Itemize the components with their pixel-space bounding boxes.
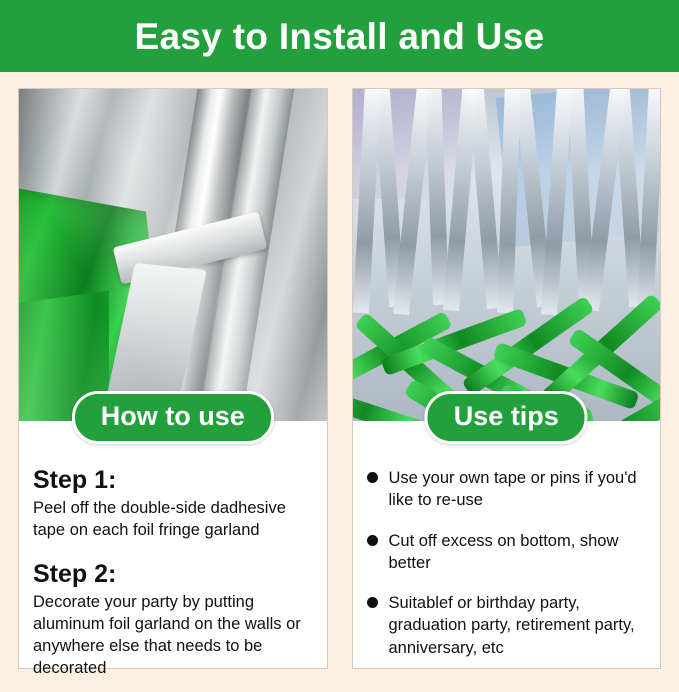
- tips-list: Use your own tape or pins if you'd like …: [367, 467, 649, 659]
- step-2-text: Decorate your party by putting aluminum …: [33, 591, 315, 680]
- header-banner: Easy to Install and Use: [0, 0, 679, 72]
- step-1-heading: Step 1:: [33, 467, 315, 495]
- bullet-icon: [367, 597, 378, 608]
- tip-text: Cut off excess on bottom, show better: [389, 532, 619, 572]
- step-1-text: Peel off the double-side dadhesive tape …: [33, 497, 315, 542]
- photo-how-to-use: [19, 89, 327, 421]
- panel-use-tips: Use tips Use your own tape or pins if yo…: [352, 88, 662, 669]
- tip-text: Use your own tape or pins if you'd like …: [389, 469, 637, 509]
- list-item: Use your own tape or pins if you'd like …: [367, 467, 649, 512]
- list-item: Suitablef or birthday party, graduation …: [367, 592, 649, 659]
- list-item: Cut off excess on bottom, show better: [367, 530, 649, 575]
- how-to-use-text: Step 1: Peel off the double-side dadhesi…: [19, 421, 327, 692]
- tip-text: Suitablef or birthday party, graduation …: [389, 594, 635, 657]
- photo-use-tips: [353, 89, 661, 421]
- page-title: Easy to Install and Use: [135, 18, 545, 55]
- silver-fringe-strand: [467, 89, 503, 309]
- step-2-heading: Step 2:: [33, 561, 315, 589]
- panel-how-to-use: How to use Step 1: Peel off the double-s…: [18, 88, 328, 669]
- pill-label-how-to-use: How to use: [72, 391, 274, 444]
- panels-container: How to use Step 1: Peel off the double-s…: [0, 72, 679, 679]
- bullet-icon: [367, 535, 378, 546]
- use-tips-text: Use your own tape or pins if you'd like …: [353, 421, 661, 671]
- infographic-page: Easy to Install and Use How to use Step …: [0, 0, 679, 679]
- pill-label-use-tips: Use tips: [425, 391, 588, 444]
- bullet-icon: [367, 472, 378, 483]
